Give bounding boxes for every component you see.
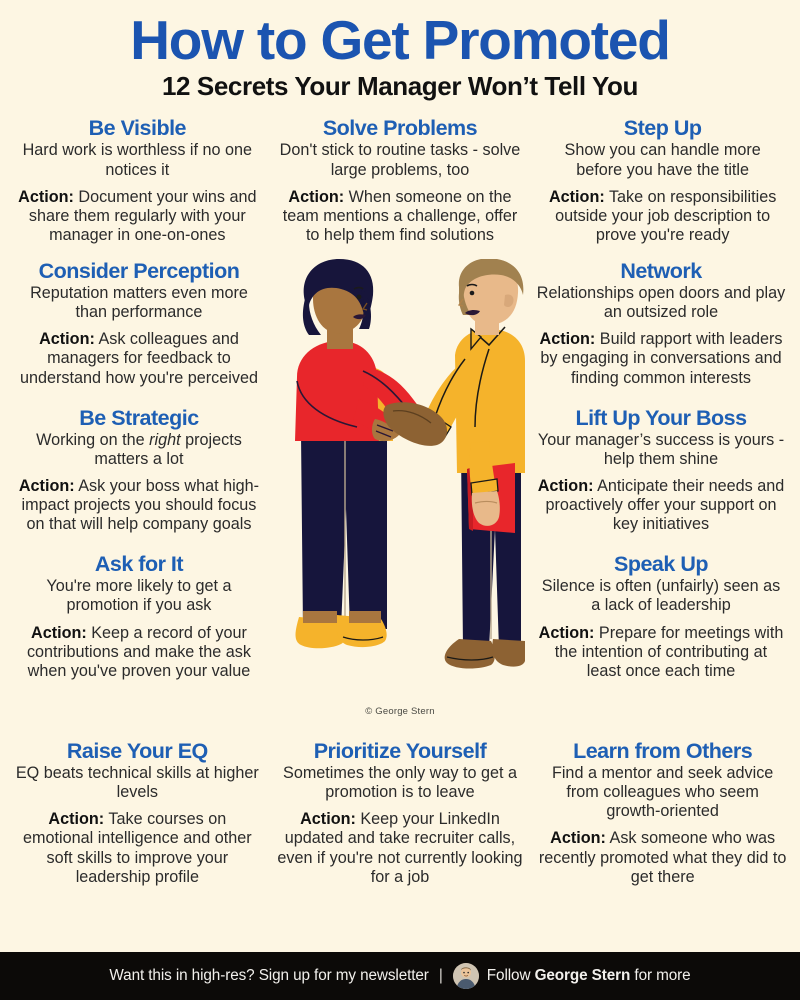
footer-bar: Want this in high-res? Sign up for my ne…: [0, 952, 800, 1000]
illustration-column: © George Stern: [272, 259, 528, 729]
tip-description: Reputation matters even more than perfor…: [14, 284, 264, 322]
tip-card-speak-up: Speak Up Silence is often (unfairly) see…: [536, 552, 786, 681]
action-label: Action:: [539, 624, 595, 642]
action-label: Action:: [549, 188, 605, 206]
tip-description: Silence is often (unfairly) seen as a la…: [536, 577, 786, 615]
page-title: How to Get Promoted: [10, 12, 790, 68]
tip-card-consider-perception: Consider Perception Reputation matters e…: [14, 259, 264, 388]
action-label: Action:: [288, 188, 344, 206]
tip-card-raise-your-eq: Raise Your EQ EQ beats technical skills …: [6, 739, 269, 887]
action-label: Action:: [538, 477, 594, 495]
tip-description: Find a mentor and seek advice from colle…: [537, 764, 788, 821]
header: How to Get Promoted 12 Secrets Your Mana…: [0, 0, 800, 104]
tip-title: Consider Perception: [14, 259, 264, 283]
tips-row-top: Be Visible Hard work is worthless if no …: [0, 116, 800, 245]
tips-row-middle: Consider Perception Reputation matters e…: [0, 259, 800, 729]
tip-card-ask-for-it: Ask for It You're more likely to get a p…: [14, 552, 264, 681]
tip-description: Relationships open doors and play an out…: [536, 284, 786, 322]
tip-description: Don't stick to routine tasks - solve lar…: [279, 141, 522, 179]
tip-title: Be Strategic: [14, 406, 264, 430]
tip-description: Working on the right projects matters a …: [14, 431, 264, 469]
tip-card-network: Network Relationships open doors and pla…: [536, 259, 786, 388]
action-label: Action:: [550, 829, 606, 847]
tip-description: You're more likely to get a promotion if…: [14, 577, 264, 615]
two-people-handshake-icon: [275, 259, 525, 704]
tip-card-be-visible: Be Visible Hard work is worthless if no …: [6, 116, 269, 245]
tip-card-lift-up-your-boss: Lift Up Your Boss Your manager’s success…: [536, 406, 786, 535]
tip-action: Action: Document your wins and share the…: [16, 188, 259, 245]
action-label: Action:: [540, 330, 596, 348]
tip-action: Action: Prepare for meetings with the in…: [536, 624, 786, 681]
tip-action: Action: When someone on the team mention…: [279, 188, 522, 245]
tips-row-bottom: Raise Your EQ EQ beats technical skills …: [0, 739, 800, 887]
tip-action: Action: Take courses on emotional intell…: [12, 810, 263, 886]
tip-card-solve-problems: Solve Problems Don't stick to routine ta…: [269, 116, 532, 245]
tip-title: Be Visible: [16, 116, 259, 140]
tip-title: Lift Up Your Boss: [536, 406, 786, 430]
avatar-photo-icon: [453, 963, 479, 989]
tip-card-prioritize-yourself: Prioritize Yourself Sometimes the only w…: [269, 739, 532, 887]
tip-title: Solve Problems: [279, 116, 522, 140]
tip-action: Action: Take on responsibilities outside…: [541, 188, 784, 245]
tip-description: Your manager’s success is yours - help t…: [536, 431, 786, 469]
tip-title: Speak Up: [536, 552, 786, 576]
infographic-page: How to Get Promoted 12 Secrets Your Mana…: [0, 0, 800, 1000]
tip-title: Network: [536, 259, 786, 283]
tip-card-step-up: Step Up Show you can handle more before …: [531, 116, 794, 245]
tip-title: Prioritize Yourself: [275, 739, 526, 763]
author-name: George Stern: [535, 967, 631, 984]
tip-action: Action: Ask your boss what high-impact p…: [14, 477, 264, 534]
tip-desc-pre: Working on the: [36, 431, 149, 449]
george-stern-avatar: [453, 963, 479, 989]
tip-action: Action: Anticipate their needs and proac…: [536, 477, 786, 534]
tip-description: EQ beats technical skills at higher leve…: [12, 764, 263, 802]
tip-description: Sometimes the only way to get a promotio…: [275, 764, 526, 802]
handshake-illustration: © George Stern: [280, 259, 520, 729]
action-label: Action:: [300, 810, 356, 828]
action-label: Action:: [48, 810, 104, 828]
follow-prefix: Follow: [487, 967, 535, 984]
tips-column-left: Consider Perception Reputation matters e…: [6, 259, 272, 729]
tip-action: Action: Build rapport with leaders by en…: [536, 330, 786, 387]
action-label: Action:: [31, 624, 87, 642]
tip-title: Raise Your EQ: [12, 739, 263, 763]
tip-card-be-strategic: Be Strategic Working on the right projec…: [14, 406, 264, 535]
tip-title: Learn from Others: [537, 739, 788, 763]
tip-action: Action: Keep your LinkedIn updated and t…: [275, 810, 526, 886]
tip-title: Ask for It: [14, 552, 264, 576]
tip-card-learn-from-others: Learn from Others Find a mentor and seek…: [531, 739, 794, 887]
action-label: Action:: [18, 188, 74, 206]
tips-column-right: Network Relationships open doors and pla…: [528, 259, 794, 729]
tip-description: Show you can handle more before you have…: [541, 141, 784, 179]
tip-title: Step Up: [541, 116, 784, 140]
action-label: Action:: [19, 477, 75, 495]
illustration-credit: © George Stern: [365, 706, 434, 717]
tip-action: Action: Ask colleagues and managers for …: [14, 330, 264, 387]
page-subtitle: 12 Secrets Your Manager Won’t Tell You: [10, 73, 790, 100]
tip-description: Hard work is worthless if no one notices…: [16, 141, 259, 179]
follow-link[interactable]: Follow George Stern for more: [487, 967, 691, 985]
tip-desc-emphasis: right: [149, 431, 181, 449]
follow-suffix: for more: [630, 967, 690, 984]
action-label: Action:: [39, 330, 95, 348]
tip-action: Action: Ask someone who was recently pro…: [537, 829, 788, 886]
footer-separator: |: [439, 967, 443, 985]
newsletter-link[interactable]: Want this in high-res? Sign up for my ne…: [109, 967, 428, 985]
tip-action: Action: Keep a record of your contributi…: [14, 624, 264, 681]
